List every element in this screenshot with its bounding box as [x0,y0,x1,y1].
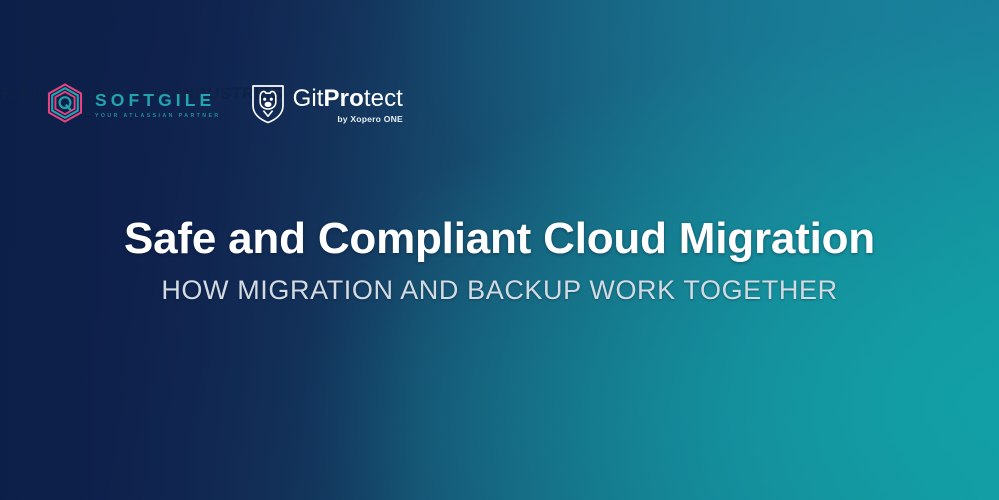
slide-title: Safe and Compliant Cloud Migration [0,215,999,263]
shield-bear-icon [251,83,285,129]
slide-subtitle: HOW MIGRATION AND BACKUP WORK TOGETHER [0,276,999,306]
softgile-logo: SOFTGILE YOUR ATLASSIAN PARTNER [44,82,221,129]
gitprotect-tagline: by Xopero ONE [337,115,403,124]
gitprotect-name: GitProtect [293,87,403,111]
gitprotect-logo: GitProtect by Xopero ONE [251,83,403,129]
gitprotect-name-part1: Git [293,85,324,112]
softgile-wordmark: SOFTGILE YOUR ATLASSIAN PARTNER [95,92,221,119]
logo-row: SOFTGILE YOUR ATLASSIAN PARTNER [44,82,999,129]
headline-block: Safe and Compliant Cloud Migration HOW M… [0,215,999,306]
gitprotect-wordmark: GitProtect by Xopero ONE [293,87,403,124]
hexagon-q-icon [44,82,86,129]
presentation-slide: FOR HIGH-COMPLIANT INDUSTRIES Safe and C… [0,0,999,500]
gitprotect-name-part2: Pro [324,85,364,112]
softgile-name: SOFTGILE [95,92,221,110]
softgile-tagline: YOUR ATLASSIAN PARTNER [95,114,221,119]
gitprotect-name-part3: tect [364,85,403,112]
